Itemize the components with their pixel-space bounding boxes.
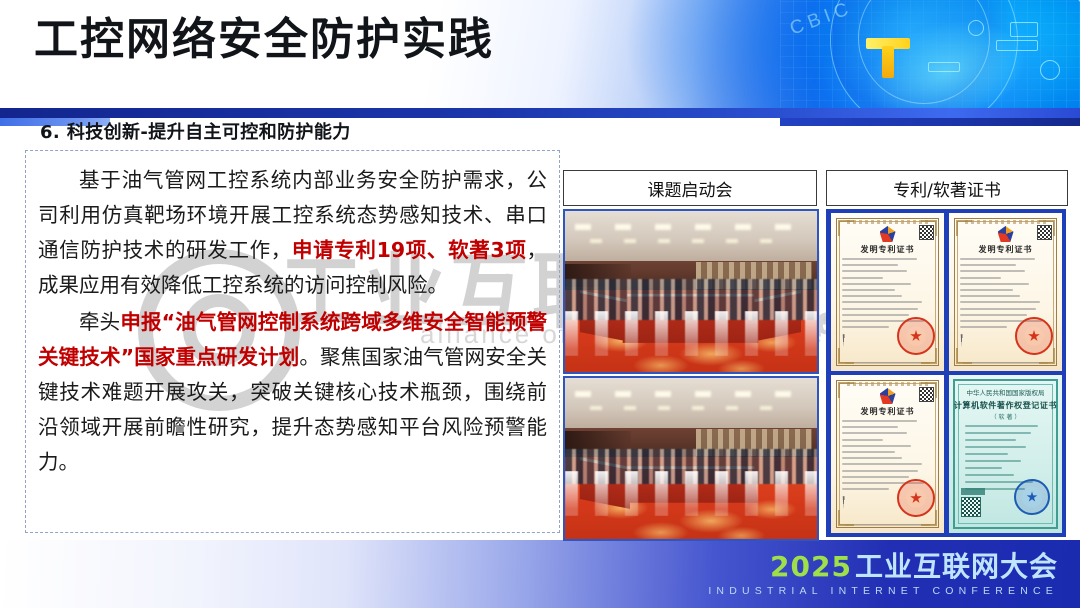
certificate-footer-line <box>845 524 930 526</box>
header-chip-icon-3 <box>968 20 984 36</box>
corner-ornament-bl <box>956 348 972 364</box>
signature-mark <box>961 332 1008 346</box>
signature-mark <box>843 494 890 508</box>
certificate-footer-line <box>845 362 930 364</box>
white-chair-covers <box>565 471 817 516</box>
paragraph-1: 基于油气管网工控系统内部业务安全防护需求，公司利用仿真靶场环境开展工控系统态势感… <box>26 151 559 303</box>
corner-ornament-br <box>921 510 937 526</box>
certificate-ornament <box>847 382 928 386</box>
caption-kickoff-meeting: 课题启动会 <box>563 170 817 206</box>
ceiling <box>565 378 817 428</box>
paragraph-2-pre: 牵头 <box>79 310 120 334</box>
conference-name: 工业互联网大会 <box>855 550 1058 583</box>
header-chip-icon-2 <box>996 40 1038 51</box>
photo-kickoff-meeting-1 <box>563 209 819 374</box>
certificate-patent-2: 发明专利证书 <box>949 213 1062 371</box>
patent-certificate-body: 发明专利证书 <box>949 213 1062 371</box>
corner-ornament-br <box>1039 348 1055 364</box>
certificate-grid: 发明专利证书 发明专利证书 <box>826 209 1066 537</box>
content-text-box: 基于油气管网工控系统内部业务安全防护需求，公司利用仿真靶场环境开展工控系统态势感… <box>25 150 560 533</box>
certificate-badge <box>961 488 985 495</box>
certificate-ornament <box>965 220 1046 224</box>
certificate-title: 发明专利证书 <box>831 406 944 417</box>
page-title: 工控网络安全防护实践 <box>34 18 494 62</box>
corner-ornament-tr <box>1039 220 1055 236</box>
corner-ornament-tl <box>956 220 972 236</box>
slide-root: CBIC 工控网络安全防护实践 6. 科技创新-提升自主可控和防护能力 工业互联… <box>0 0 1080 608</box>
certificate-patent-3: 发明专利证书 <box>831 375 944 533</box>
patent-certificate-body: 发明专利证书 <box>831 375 944 533</box>
paragraph-1-highlight: 申请专利19项、软著3项 <box>292 238 527 262</box>
patent-certificate-body: 发明专利证书 <box>831 213 944 371</box>
ceiling <box>565 211 817 261</box>
certificate-software-copyright: 中华人民共和国国家版权局 计算机软件著作权登记证书 （ 软 著 ） <box>949 375 1062 533</box>
certificate-title: 发明专利证书 <box>949 244 1062 255</box>
meeting-room-scene-2 <box>565 378 817 539</box>
corner-ornament-br <box>921 348 937 364</box>
conference-year: 2025 <box>770 550 852 583</box>
title-divider-accent-right <box>780 118 1080 126</box>
certificate-title: 计算机软件著作权登记证书 <box>949 400 1062 411</box>
software-certificate-body: 中华人民共和国国家版权局 计算机软件著作权登记证书 （ 软 著 ） <box>949 375 1062 533</box>
corner-ornament-tr <box>921 382 937 398</box>
corner-ornament-tl <box>838 220 854 236</box>
meeting-room-scene-1 <box>565 211 817 372</box>
corner-ornament-tl <box>838 382 854 398</box>
header-chip-icon-4 <box>1040 60 1060 80</box>
corner-ornament-bl <box>838 510 854 526</box>
signature-mark <box>843 332 890 346</box>
header-t-logo-icon <box>866 38 910 78</box>
white-chair-covers <box>565 311 817 356</box>
section-subtitle: 6. 科技创新-提升自主可控和防护能力 <box>40 118 351 144</box>
header-chip-icon-5 <box>928 62 960 72</box>
conference-logo-main: 2025工业互联网大会 <box>708 552 1058 581</box>
header-chip-icon-1 <box>1010 22 1038 37</box>
blue-official-seal-icon <box>1014 479 1050 515</box>
certificate-title: 发明专利证书 <box>831 244 944 255</box>
certificate-patent-1: 发明专利证书 <box>831 213 944 371</box>
certificate-issuer: 中华人民共和国国家版权局 <box>949 387 1062 397</box>
t-logo-stem <box>882 46 894 78</box>
corner-ornament-bl <box>838 348 854 364</box>
corner-ornament-tr <box>921 220 937 236</box>
slide-footer: 2025工业互联网大会 INDUSTRIAL INTERNET CONFEREN… <box>0 540 1080 608</box>
conference-logo-subtitle: INDUSTRIAL INTERNET CONFERENCE <box>708 585 1058 597</box>
paragraph-2: 牵头申报“油气管网控制系统跨域多维安全智能预警关键技术”国家重点研发计划。聚焦国… <box>26 303 559 480</box>
certificate-footer-line <box>963 362 1048 364</box>
title-divider-bar <box>0 108 1080 118</box>
conference-logo: 2025工业互联网大会 INDUSTRIAL INTERNET CONFEREN… <box>708 552 1058 597</box>
photo-kickoff-meeting-2 <box>563 376 819 541</box>
certificate-subtitle: （ 软 著 ） <box>949 412 1062 421</box>
caption-patent-certificates: 专利/软著证书 <box>826 170 1068 206</box>
qr-code-icon <box>961 497 981 517</box>
certificate-ornament <box>847 220 928 224</box>
